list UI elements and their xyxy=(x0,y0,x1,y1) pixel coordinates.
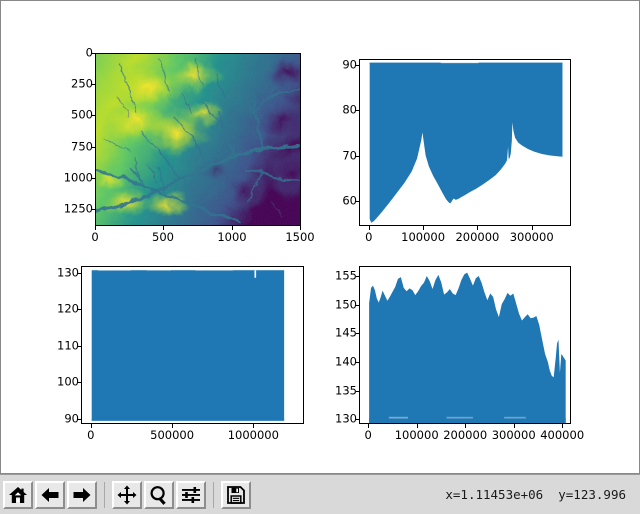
xtick-label: 0 xyxy=(365,232,372,244)
ytick-label: 70 xyxy=(342,150,357,162)
toolbar-separator-1 xyxy=(104,482,105,508)
ytick-label: 145 xyxy=(335,328,357,340)
forward-arrow-icon xyxy=(72,486,92,504)
home-icon xyxy=(8,486,28,504)
ytick-label: 250 xyxy=(71,78,93,90)
ytick-label: 1250 xyxy=(64,203,93,215)
xtickmark xyxy=(465,424,466,428)
xtickmark xyxy=(253,424,254,428)
xtickmark xyxy=(562,424,563,428)
home-button[interactable] xyxy=(3,481,33,509)
xtickmark xyxy=(95,226,96,230)
ytick-label: 135 xyxy=(335,385,357,397)
save-floppy-icon xyxy=(227,486,245,504)
axes-profile-top-right[interactable]: 0 100000 200000 300000 60 70 80 90 xyxy=(359,59,571,226)
xtick-label: 0 xyxy=(91,232,98,244)
profile-bottom-left-frame xyxy=(81,266,304,424)
xtick-label: 300000 xyxy=(492,430,536,442)
zoom-button[interactable] xyxy=(144,481,174,509)
dem-raster xyxy=(96,54,300,225)
ytick-label: 100 xyxy=(57,377,79,389)
profile-top-right-area xyxy=(360,60,570,225)
xtick-label: 100000 xyxy=(395,430,439,442)
save-button[interactable] xyxy=(221,481,251,509)
zoom-magnifier-icon xyxy=(149,485,169,505)
ytick-label: 80 xyxy=(342,104,357,116)
xtickmark xyxy=(300,226,301,230)
xtickmark xyxy=(368,424,369,428)
figure-canvas[interactable]: 0 500 1000 1500 0 250 500 750 1000 1250 xyxy=(0,0,640,474)
xtickmark xyxy=(163,226,164,230)
xtickmark xyxy=(232,226,233,230)
toolbar-group-file xyxy=(218,481,254,509)
xtick-label: 1000000 xyxy=(228,430,279,442)
pan-button[interactable] xyxy=(112,481,142,509)
xtickmark xyxy=(423,226,424,230)
ytick-label: 130 xyxy=(57,267,79,279)
xtick-label: 200000 xyxy=(455,232,499,244)
cursor-coordinate-status: x=1.11453e+06 y=123.996 xyxy=(445,487,626,502)
ytick-label: 150 xyxy=(335,299,357,311)
back-button[interactable] xyxy=(35,481,65,509)
matplotlib-figure-window: 0 500 1000 1500 0 250 500 750 1000 1250 xyxy=(0,0,640,514)
ytick-label: 110 xyxy=(57,340,79,352)
toolbar-separator-2 xyxy=(213,482,214,508)
profile-bottom-left-area xyxy=(82,267,303,423)
toolbar-group-navigation xyxy=(0,481,100,509)
dem-image-frame xyxy=(95,53,301,226)
navigation-toolbar: x=1.11453e+06 y=123.996 xyxy=(0,474,640,514)
xtickmark xyxy=(172,424,173,428)
xtick-label: 100000 xyxy=(401,232,445,244)
back-arrow-icon xyxy=(40,486,60,504)
xtick-label: 400000 xyxy=(540,430,584,442)
profile-top-right-frame xyxy=(359,59,571,226)
xtickmark xyxy=(514,424,515,428)
ytick-label: 750 xyxy=(71,141,93,153)
xtick-label: 300000 xyxy=(510,232,554,244)
xtickmark xyxy=(91,424,92,428)
xtick-label: 1000 xyxy=(217,232,246,244)
xtickmark xyxy=(369,226,370,230)
ytick-label: 120 xyxy=(57,303,79,315)
xtickmark xyxy=(532,226,533,230)
ytick-label: 0 xyxy=(86,47,93,59)
xtick-label: 0 xyxy=(365,430,372,442)
ytick-label: 155 xyxy=(335,271,357,283)
ytick-label: 90 xyxy=(342,59,357,71)
subplot-config-button[interactable] xyxy=(176,481,206,509)
profile-bottom-right-area xyxy=(360,267,570,423)
xtickmark xyxy=(417,424,418,428)
xtick-label: 500 xyxy=(152,232,174,244)
profile-bottom-right-frame xyxy=(359,266,571,424)
xtick-label: 500000 xyxy=(150,430,194,442)
forward-button[interactable] xyxy=(67,481,97,509)
axes-profile-bottom-right[interactable]: 0 100000 200000 300000 400000 130 135 14… xyxy=(359,266,571,424)
subplot-config-icon xyxy=(181,486,201,504)
xtick-label: 1500 xyxy=(285,232,314,244)
xtick-label: 200000 xyxy=(443,430,487,442)
ytick-label: 140 xyxy=(335,356,357,368)
pan-icon xyxy=(117,485,137,505)
xtickmark xyxy=(477,226,478,230)
axes-dem-image[interactable]: 0 500 1000 1500 0 250 500 750 1000 1250 xyxy=(95,53,301,226)
ytick-label: 60 xyxy=(342,195,357,207)
ytick-label: 90 xyxy=(64,413,79,425)
xtick-label: 0 xyxy=(87,430,94,442)
ytick-label: 500 xyxy=(71,109,93,121)
ytick-label: 130 xyxy=(335,413,357,425)
ytick-label: 1000 xyxy=(64,172,93,184)
toolbar-group-tools xyxy=(109,481,209,509)
axes-profile-bottom-left[interactable]: 0 500000 1000000 90 100 110 120 130 xyxy=(81,266,304,424)
